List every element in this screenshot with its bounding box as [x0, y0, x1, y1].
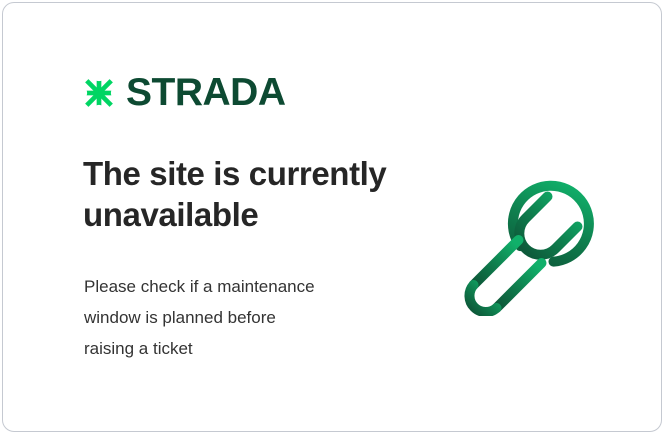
page-title: The site is currently unavailable [83, 153, 423, 235]
wrench-icon [455, 156, 619, 316]
description-line: Please check if a maintenance [84, 271, 394, 302]
description-line: raising a ticket [84, 333, 394, 364]
brand-wordmark: STRADA [126, 73, 286, 112]
strada-asterisk-icon [81, 75, 117, 111]
status-card: STRADA The site is currently unavailable… [2, 2, 662, 432]
description-line: window is planned before [84, 302, 394, 333]
brand-logo: STRADA [81, 73, 286, 112]
page-description: Please check if a maintenance window is … [84, 271, 394, 364]
